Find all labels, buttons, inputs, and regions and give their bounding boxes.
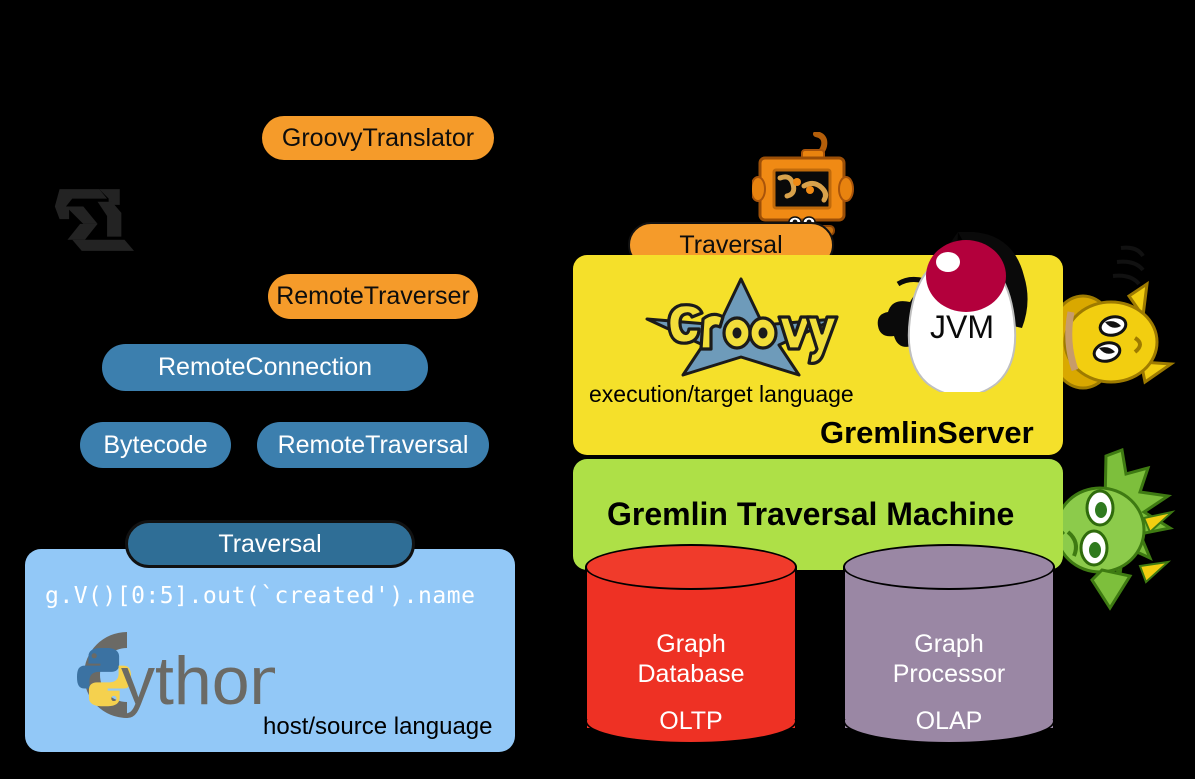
- graph-processor-line1: Graph: [914, 630, 983, 658]
- pill-traversal-host[interactable]: Traversal: [125, 520, 415, 568]
- diagram-canvas: GroovyTranslator RemoteTraverser RemoteC…: [0, 0, 1195, 779]
- graph-database-cylinder: Graph Database OLTP: [585, 544, 797, 751]
- pill-groovy-translator-label: GroovyTranslator: [282, 124, 474, 153]
- cylinder-top: [843, 544, 1055, 590]
- yellow-gremlin-mascot: [1055, 240, 1195, 410]
- graph-processor-cylinder: Graph Processor OLAP: [843, 544, 1055, 751]
- java-duke-mascot: JVM: [862, 232, 1062, 392]
- host-language-caption: host/source language: [263, 713, 493, 741]
- pill-bytecode-label: Bytecode: [103, 431, 207, 460]
- pill-bytecode[interactable]: Bytecode: [80, 422, 231, 468]
- graph-processor-line2: Processor: [893, 660, 1006, 688]
- graph-database-label: Graph Database: [585, 630, 797, 689]
- pill-remote-traversal[interactable]: RemoteTraversal: [257, 422, 489, 468]
- pill-remote-traverser-label: RemoteTraverser: [276, 282, 470, 311]
- cpython-logo: ython: [35, 620, 275, 730]
- pill-traversal-host-label: Traversal: [218, 530, 321, 559]
- pill-remote-traverser[interactable]: RemoteTraverser: [268, 274, 478, 319]
- gremlin-mark-logo: [48, 178, 144, 254]
- svg-text:ython: ython: [121, 643, 275, 719]
- olap-label: OLAP: [843, 707, 1055, 737]
- graph-processor-label: Graph Processor: [843, 630, 1055, 689]
- pill-remote-connection-label: RemoteConnection: [158, 353, 372, 382]
- graph-database-line2: Database: [637, 660, 744, 688]
- pill-groovy-translator[interactable]: GroovyTranslator: [262, 116, 494, 160]
- pill-remote-traversal-label: RemoteTraversal: [278, 431, 469, 460]
- execution-language-caption: execution/target language: [589, 381, 854, 408]
- green-gremlin-mascot: [1052, 448, 1194, 616]
- pill-remote-connection[interactable]: RemoteConnection: [102, 344, 428, 391]
- svg-text:JVM: JVM: [930, 309, 994, 345]
- oltp-label: OLTP: [585, 707, 797, 737]
- groovy-logo: [643, 275, 839, 380]
- gremlin-code-line: g.V()[0:5].out(`created').name: [45, 583, 475, 609]
- cylinder-top: [585, 544, 797, 590]
- graph-database-line1: Graph: [656, 630, 725, 658]
- gremlin-server-title: GremlinServer: [820, 415, 1034, 451]
- gremlin-traversal-machine-title: Gremlin Traversal Machine: [607, 496, 1014, 533]
